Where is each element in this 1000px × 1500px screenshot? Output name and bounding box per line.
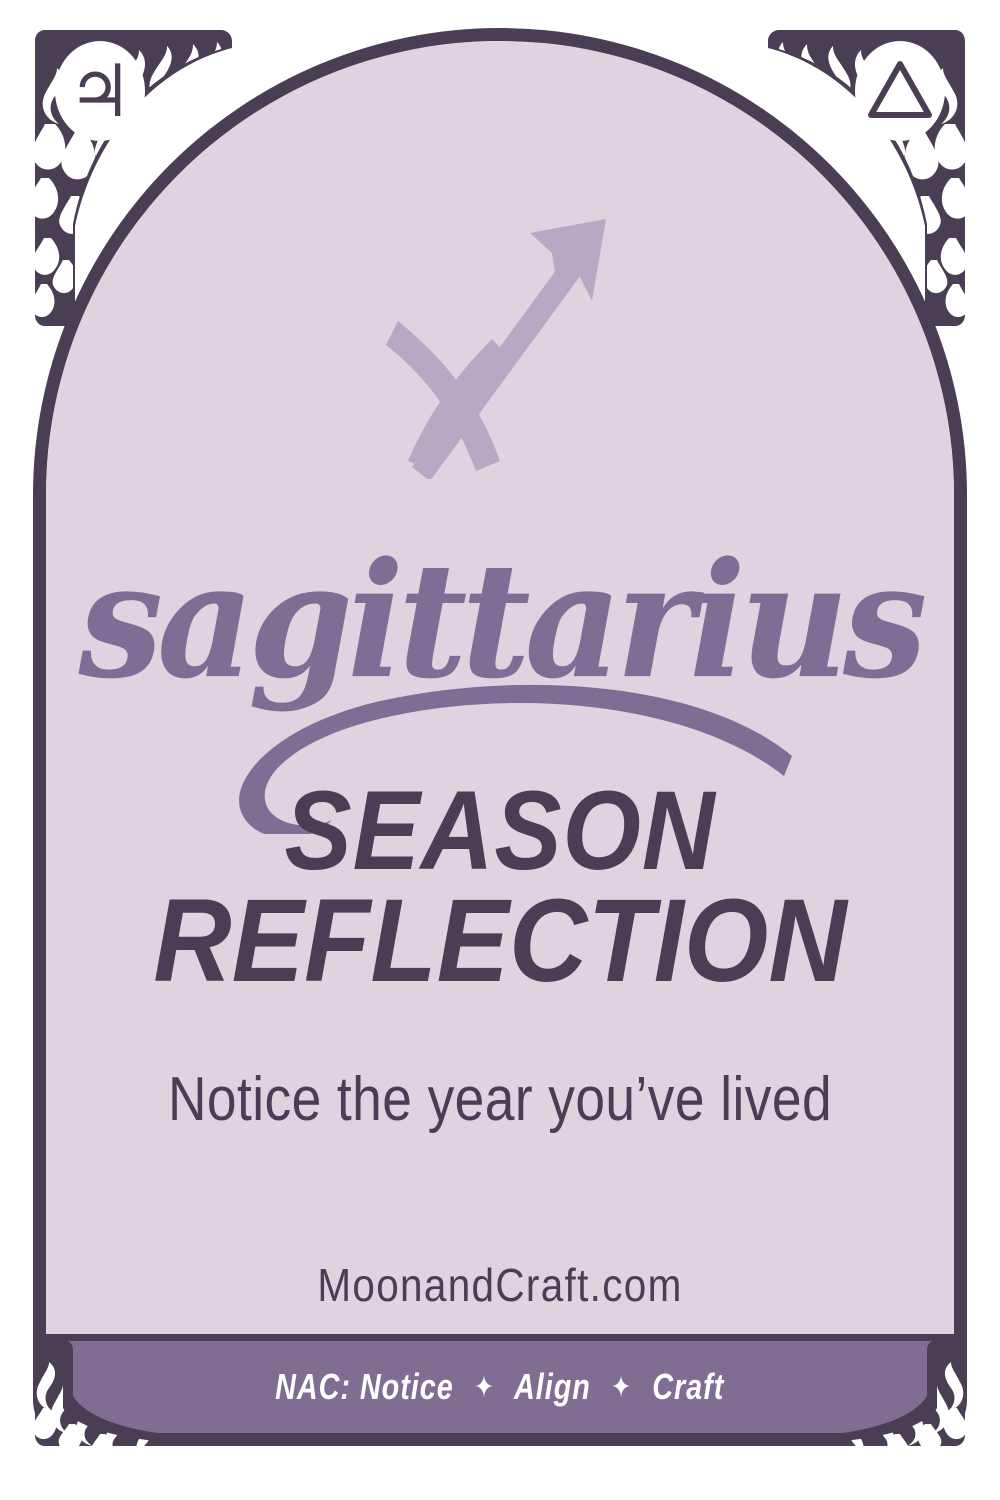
corner-ornament-bottom-right: [797, 1338, 967, 1448]
banner-suffix: Craft: [653, 1366, 725, 1407]
headline-line-1: SEASON: [91, 776, 908, 886]
banner-middle: Align: [514, 1366, 591, 1407]
headline: SEASON REFLECTION: [46, 776, 954, 996]
headline-line-2: REFLECTION: [82, 886, 917, 996]
sparkle-icon-1: ✦: [463, 1371, 506, 1404]
fire-element-badge-circle: [855, 41, 945, 141]
subtitle: Notice the year you’ve lived: [110, 1066, 891, 1134]
sparkle-icon-2: ✦: [600, 1371, 643, 1404]
banner-prefix: NAC: Notice: [275, 1366, 454, 1407]
corner-ornament-bottom-left: [33, 1338, 203, 1448]
banner-text: NAC: Notice ✦ Align ✦ Craft: [275, 1366, 724, 1408]
jupiter-glyph-icon: ♃: [68, 49, 133, 133]
corner-ornament-top-right: [767, 28, 967, 328]
sagittarius-arrow-icon: [380, 209, 620, 479]
website-url[interactable]: MoonandCraft.com: [100, 1259, 899, 1311]
zodiac-script-word: sagittarius: [46, 542, 954, 701]
corner-ornament-top-left: ♃: [33, 28, 233, 328]
zodiac-poster: sagittarius SEASON REFLECTION Notice the…: [0, 0, 1000, 1500]
